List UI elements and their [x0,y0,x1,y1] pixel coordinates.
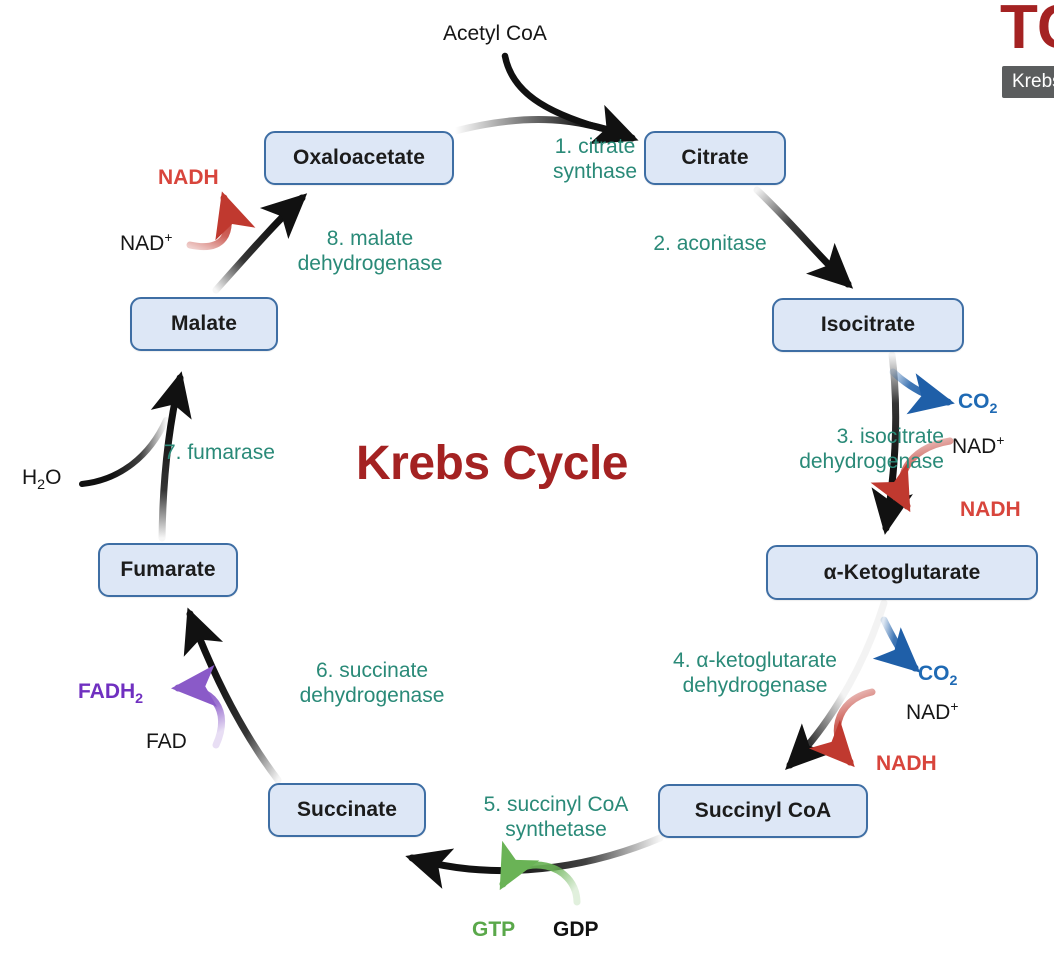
arrow-h2o-in [82,420,166,484]
label-nad-step4: NAD+ [906,694,958,725]
label-acetyl-coa: Acetyl CoA [443,22,547,46]
corner-tooltip: Krebs [1002,66,1054,98]
node-fumarate[interactable]: Fumarate [98,543,238,597]
node-oxaloacetate[interactable]: Oxaloacetate [264,131,454,185]
label-nad-step8: NAD+ [120,225,172,256]
node-ketoglutarate[interactable]: α-Ketoglutarate [766,545,1038,600]
enzyme-label-8: 8. malate dehydrogenase [256,226,484,276]
enzyme-label-6: 6. succinate dehydrogenase [258,658,486,708]
label-nadh-step4: NADH [876,752,937,776]
enzyme-label-5: 5. succinyl CoA synthetase [444,792,668,842]
page-title: Krebs Cycle [356,436,628,491]
node-succinylcoa[interactable]: Succinyl CoA [658,784,868,838]
enzyme-label-3: 3. isocitrate dehydrogenase [716,424,944,474]
label-nadh-step3: NADH [960,498,1021,522]
label-gtp: GTP [472,918,515,942]
label-gdp: GDP [553,918,599,942]
label-nadh-step8: NADH [158,166,219,190]
node-malate[interactable]: Malate [130,297,278,351]
label-fad: FAD [146,730,187,754]
node-succinate[interactable]: Succinate [268,783,426,837]
curve-nad-to-nadh-step8 [190,198,228,247]
corner-heading-text: TC [1000,0,1054,63]
label-co2-step3: CO2 [958,390,997,421]
enzyme-label-2: 2. aconitase [600,231,820,256]
label-fadh2: FADH2 [78,680,143,711]
curve-co2-step3 [893,372,948,402]
enzyme-label-1: 1. citrate synthase [500,134,690,184]
krebs-cycle-diagram: Oxaloacetate Citrate Isocitrate α-Ketogl… [0,0,1054,964]
label-h2o: H2O [22,466,61,497]
enzyme-label-4: 4. α-ketoglutarate dehydrogenase [620,648,890,698]
node-isocitrate[interactable]: Isocitrate [772,298,964,352]
label-co2-step4: CO2 [918,662,957,693]
enzyme-label-7: 7. fumarase [164,440,350,465]
label-nad-step3: NAD+ [952,428,1004,459]
